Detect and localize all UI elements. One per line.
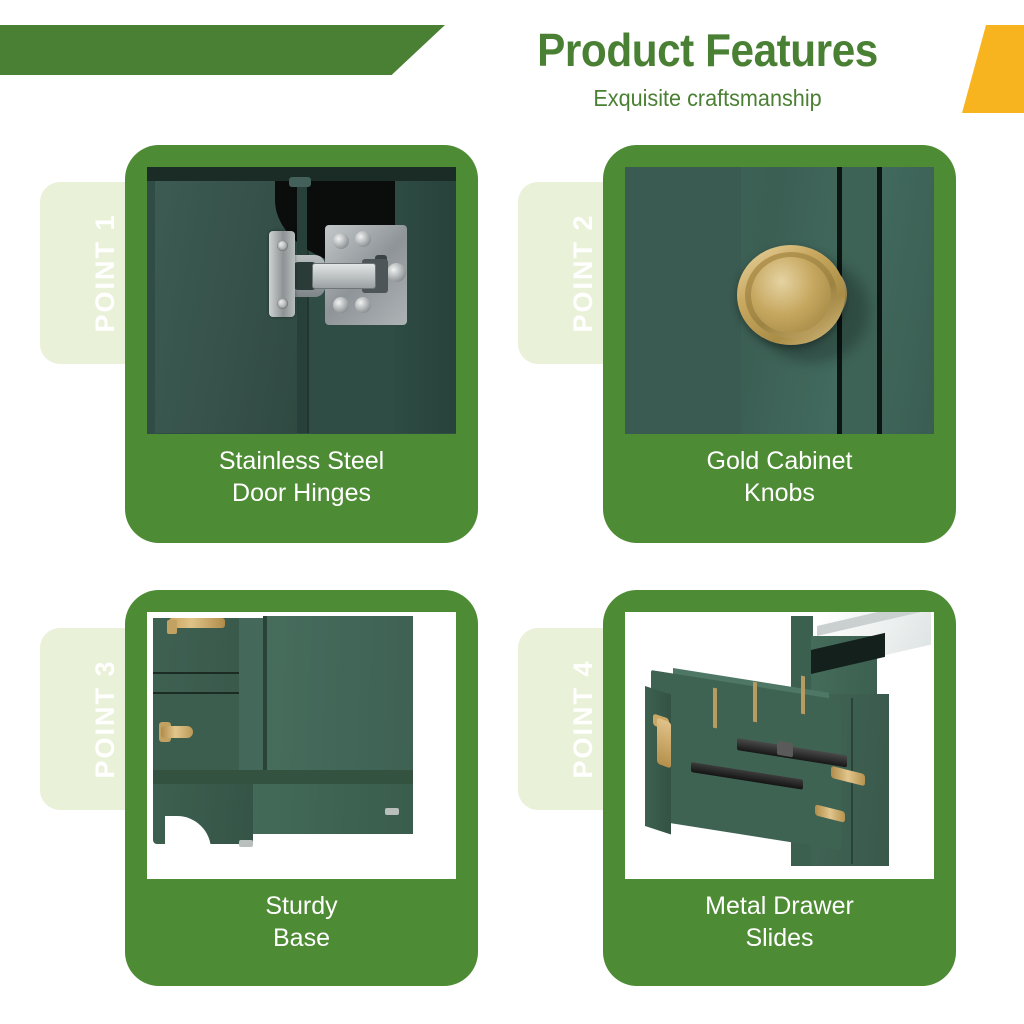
- feature-card-1: Stainless Steel Door Hinges: [125, 145, 478, 543]
- gold-handle-mount: [167, 620, 177, 634]
- feature-caption-3: Sturdy Base: [135, 890, 468, 954]
- door-panel-left: [625, 167, 741, 434]
- caption-line-1: Stainless Steel: [135, 445, 468, 477]
- drawer-divider-pin: [713, 688, 717, 729]
- page-header: Product Features Exquisite craftsmanship: [0, 0, 1024, 130]
- drawer-divider-line: [153, 692, 239, 694]
- drawer-divider-line: [153, 672, 239, 674]
- caption-line-2: Door Hinges: [135, 477, 468, 509]
- caption-line-2: Knobs: [613, 477, 946, 509]
- slide-latch: [777, 741, 793, 758]
- hinge-illustration: [147, 167, 456, 434]
- knob-face: [751, 257, 831, 333]
- drawer-slides-illustration: [625, 612, 934, 879]
- hinge-photo: [147, 167, 456, 434]
- caption-line-2: Slides: [613, 922, 946, 954]
- feature-card-2: Gold Cabinet Knobs: [603, 145, 956, 543]
- hinge-arm: [312, 263, 376, 289]
- cabinet-corner-edge: [263, 616, 267, 778]
- gold-knob-photo: [625, 167, 934, 434]
- feature-caption-1: Stainless Steel Door Hinges: [135, 445, 468, 509]
- page-title: Product Features: [475, 22, 940, 78]
- gold-drawer-handle: [169, 618, 225, 628]
- caption-line-1: Sturdy: [135, 890, 468, 922]
- page-subtitle: Exquisite craftsmanship: [470, 84, 945, 112]
- caption-line-1: Gold Cabinet: [613, 445, 946, 477]
- feature-caption-4: Metal Drawer Slides: [613, 890, 946, 954]
- caption-line-2: Base: [135, 922, 468, 954]
- door-groove: [877, 167, 882, 434]
- feature-card-4: Metal Drawer Slides: [603, 590, 956, 986]
- door-top-nub: [289, 177, 311, 187]
- cabinet-side-panel: [265, 616, 413, 778]
- hinge-screw-hole: [333, 233, 349, 249]
- hinge-screw-hole: [333, 297, 349, 313]
- drawer-slides-photo: [625, 612, 934, 879]
- hinge-adjust-screw: [387, 263, 406, 282]
- feature-card-3: Sturdy Base: [125, 590, 478, 986]
- cabinet-foot: [385, 808, 399, 815]
- plinth-top-edge: [153, 770, 413, 784]
- gold-drawer-handle: [657, 717, 671, 768]
- hinge-screw-hole: [355, 231, 371, 247]
- drawer-divider-pin: [801, 676, 805, 715]
- hinge-screw-hole: [355, 297, 371, 313]
- hinge-screw: [277, 298, 288, 309]
- door-edge-lip: [297, 181, 307, 433]
- cabinet-foot: [239, 840, 253, 847]
- gold-door-handle: [161, 726, 193, 738]
- header-yellow-accent: [962, 25, 1024, 113]
- hinge-screw: [277, 240, 288, 251]
- caption-line-1: Metal Drawer: [613, 890, 946, 922]
- sturdy-base-illustration: [147, 612, 456, 879]
- drawer-divider-pin: [753, 682, 757, 723]
- header-green-bar: [0, 25, 445, 75]
- gold-knob-illustration: [625, 167, 934, 434]
- sturdy-base-photo: [147, 612, 456, 879]
- feature-caption-2: Gold Cabinet Knobs: [613, 445, 946, 509]
